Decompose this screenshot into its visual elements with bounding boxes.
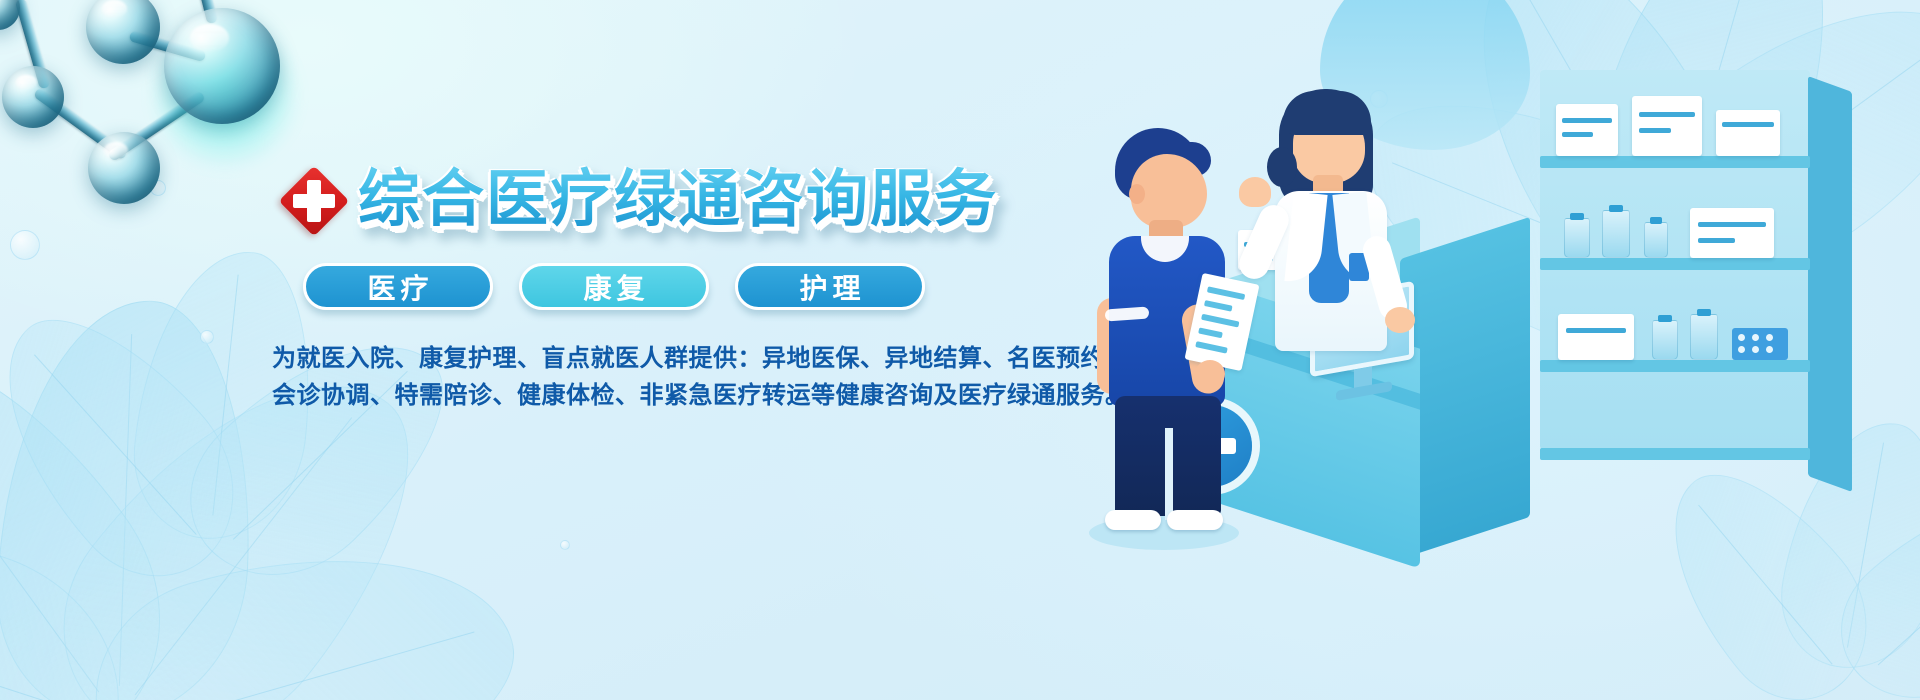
- pharmacy-counter-illustration: [1020, 0, 1920, 700]
- pharmacist-figure: [1245, 85, 1435, 385]
- customer-figure: [1075, 128, 1245, 528]
- medicine-bottle: [1564, 218, 1590, 258]
- medical-cross-diamond-icon: [283, 170, 345, 232]
- medicine-box: [1558, 314, 1634, 360]
- medicine-box: [1690, 208, 1774, 258]
- medicine-bottle: [1652, 320, 1678, 360]
- medicine-bottle: [1602, 210, 1630, 258]
- service-tag-medical[interactable]: 医疗: [303, 263, 493, 310]
- medicine-bottle: [1644, 222, 1668, 258]
- page-title: 综合医疗绿通咨询服务: [358, 166, 998, 234]
- service-tag-nursing[interactable]: 护理: [735, 263, 925, 310]
- medicine-box: [1716, 110, 1780, 156]
- medicine-box: [1632, 96, 1702, 156]
- medicine-shelf: [1540, 70, 1840, 500]
- description-line-2: 会诊协调、特需陪诊、健康体检、非紧急医疗转运等健康咨询及医疗绿通服务。: [272, 377, 992, 414]
- description-line-1: 为就医入院、康复护理、盲点就医人群提供：异地医保、异地结算、名医预约: [272, 340, 992, 377]
- pill-blister-pack: [1732, 328, 1788, 360]
- medical-service-banner: 综合医疗绿通咨询服务 医疗 康复 护理 为就医入院、康复护理、盲点就医人群提供：…: [0, 0, 1920, 700]
- banner-content: 综合医疗绿通咨询服务 医疗 康复 护理 为就医入院、康复护理、盲点就医人群提供：…: [0, 0, 1020, 700]
- service-tag-list: 医疗 康复 护理: [303, 263, 925, 310]
- medicine-box: [1556, 104, 1618, 156]
- service-tag-rehab[interactable]: 康复: [519, 263, 709, 310]
- medicine-bottle: [1690, 314, 1718, 360]
- banner-description: 为就医入院、康复护理、盲点就医人群提供：异地医保、异地结算、名医预约 会诊协调、…: [272, 340, 992, 414]
